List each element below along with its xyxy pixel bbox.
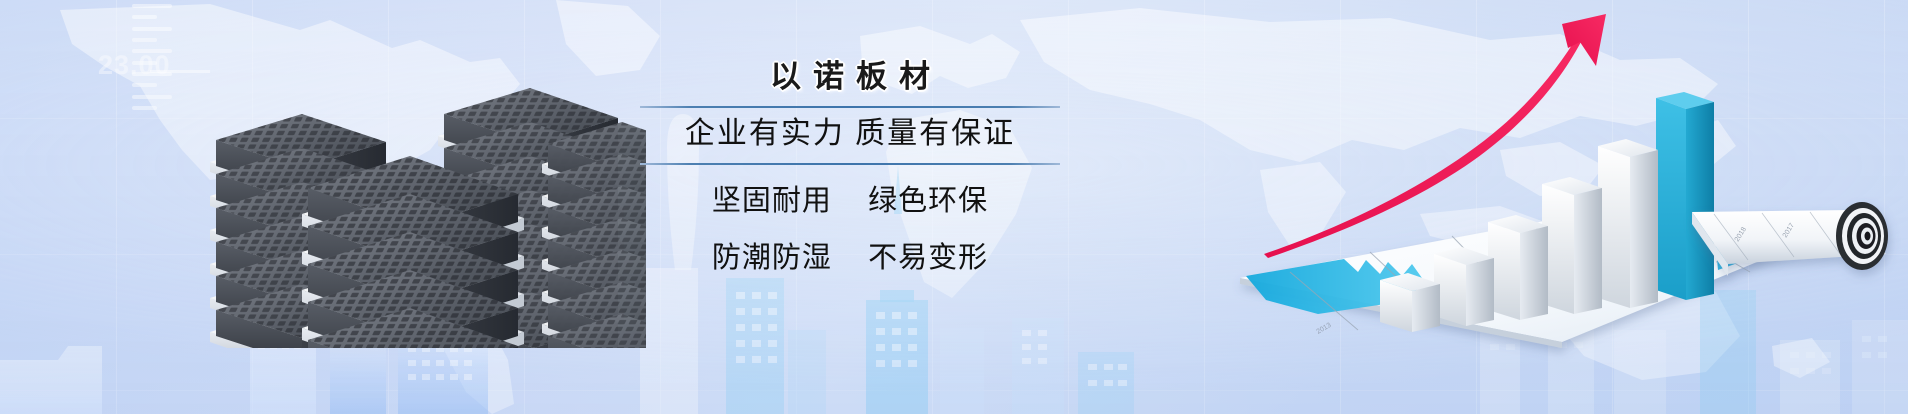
growth-chart-graphic: 2013 2014 2015 2016 2017 2018 xyxy=(1262,14,1892,350)
chart-bar-2 xyxy=(1434,247,1494,326)
chart-bar-4 xyxy=(1542,177,1602,314)
feature-line-1: 坚固耐用 绿色环保 xyxy=(640,187,1060,216)
chart-bar-5 xyxy=(1598,139,1658,308)
brand-subtitle: 企业有实力 质量有保证 xyxy=(640,114,1060,155)
promo-banner: 23.00 xyxy=(0,0,1908,414)
feature-list: 坚固耐用 绿色环保 防潮防湿 不易变形 xyxy=(640,187,1060,273)
feature-line-2: 防潮防湿 不易变形 xyxy=(640,244,1060,273)
svg-text:2013: 2013 xyxy=(1316,322,1333,336)
chart-bar-3 xyxy=(1488,215,1548,320)
chart-bar-6 xyxy=(1656,92,1714,300)
divider-bottom xyxy=(640,163,1060,165)
product-image xyxy=(196,48,646,348)
divider-top xyxy=(640,106,1060,108)
brand-title: 以诺板材 xyxy=(640,58,1060,97)
background-axis-number: 23.00 xyxy=(98,50,171,81)
headline-block: 以诺板材 企业有实力 质量有保证 坚固耐用 绿色环保 防潮防湿 不易变形 xyxy=(640,58,1060,308)
rolled-chart-paper: 2018 2017 xyxy=(1692,202,1888,276)
chart-bar-1 xyxy=(1380,273,1440,332)
